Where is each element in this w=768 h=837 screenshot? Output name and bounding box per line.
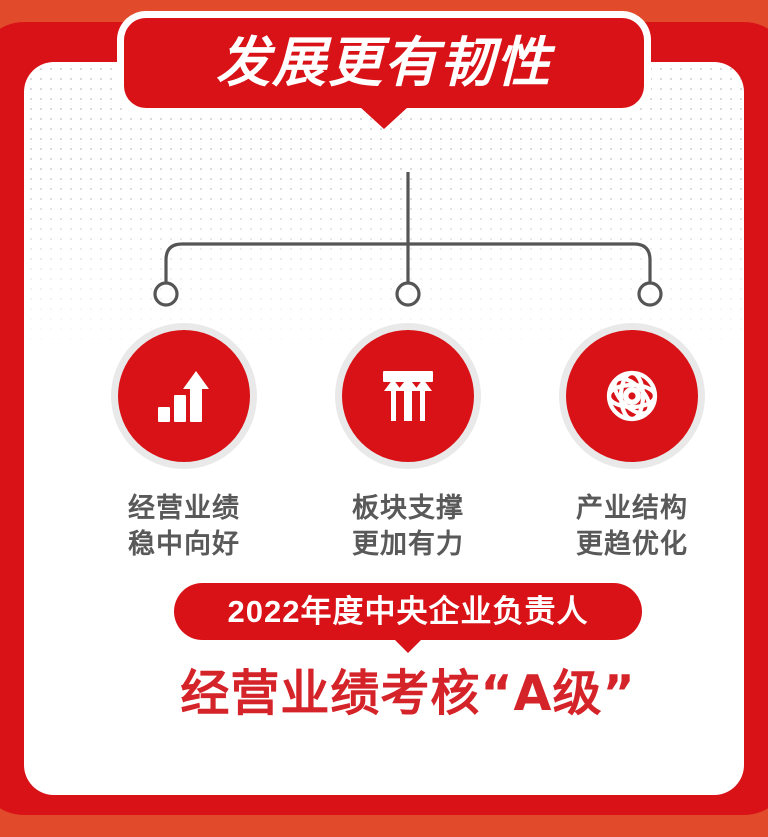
footer-pill-text: 2022年度中央企业负责人: [228, 596, 589, 627]
connector-node-right: [639, 283, 661, 305]
feature-label-line1: 产业结构: [576, 490, 688, 526]
feature-label-line2: 稳中向好: [128, 526, 240, 562]
three-arrows-support-pillar-icon: [377, 365, 439, 427]
title-banner: 发展更有韧性: [124, 18, 644, 108]
title-text: 发展更有韧性: [216, 36, 552, 90]
connector-node-left: [155, 283, 177, 305]
feature-label-line1: 板块支撑: [352, 490, 464, 526]
title-pointer-icon: [360, 107, 408, 129]
bar-chart-growth-arrow-icon: [153, 365, 215, 427]
feature-label-line2: 更趋优化: [576, 526, 688, 562]
footer-pill-banner[interactable]: 2022年度中央企业负责人: [174, 583, 643, 640]
feature-label-line2: 更加有力: [352, 526, 464, 562]
footer-headline: 经营业绩考核“A级”: [180, 667, 635, 721]
feature-icon-circle: [118, 330, 250, 462]
connector-bracket: [48, 172, 744, 322]
footer-pill-pointer-icon: [395, 640, 421, 653]
feature-list: 经营业绩 稳中向好: [48, 330, 744, 563]
connector-node-center: [397, 283, 419, 305]
poster-root: 经营业绩 稳中向好: [0, 0, 768, 837]
feature-label: 经营业绩 稳中向好: [128, 490, 240, 563]
feature-item-sector-support[interactable]: 板块支撑 更加有力: [318, 330, 498, 563]
feature-icon-circle: [342, 330, 474, 462]
footer-block: 2022年度中央企业负责人 经营业绩考核“A级”: [48, 583, 744, 721]
feature-item-industry-structure[interactable]: 产业结构 更趋优化: [542, 330, 722, 563]
feature-item-performance[interactable]: 经营业绩 稳中向好: [94, 330, 274, 563]
feature-label-line1: 经营业绩: [128, 490, 240, 526]
feature-icon-circle: [566, 330, 698, 462]
poster-card: 经营业绩 稳中向好: [24, 62, 744, 795]
feature-label: 板块支撑 更加有力: [352, 490, 464, 563]
feature-label: 产业结构 更趋优化: [576, 490, 688, 563]
globe-orbit-structure-icon: [600, 364, 664, 428]
